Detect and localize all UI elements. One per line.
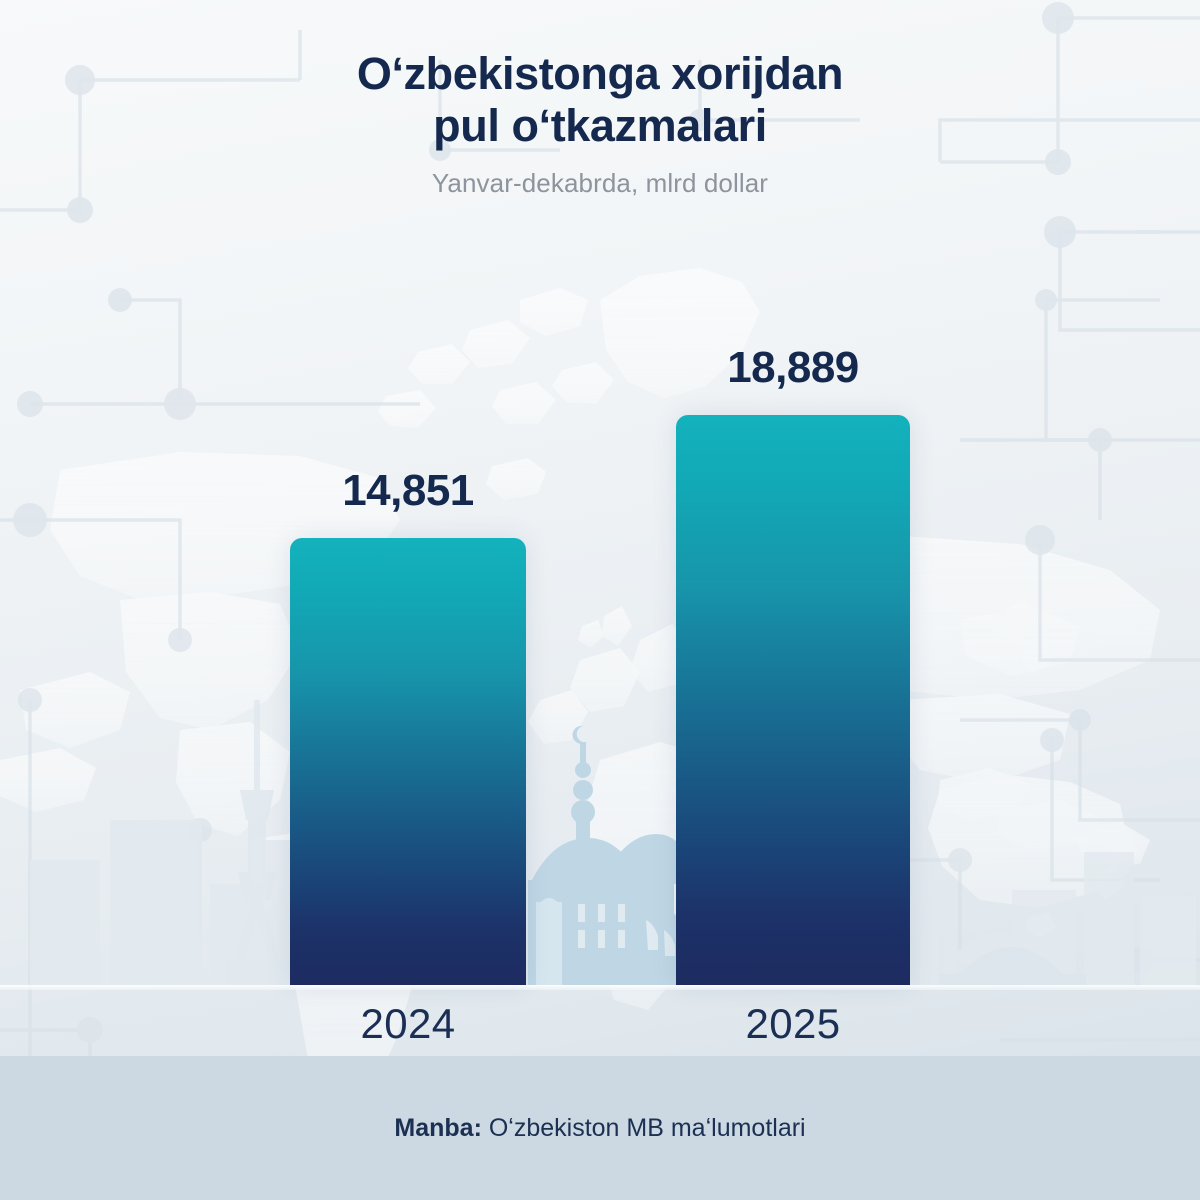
source-label: Manba: (394, 1114, 482, 1142)
chart-subtitle: Yanvar-dekabrda, mlrd dollar (0, 168, 1200, 199)
title-line-1: Oʻzbekistonga xorijdan (357, 48, 843, 99)
category-label-2024: 2024 (290, 1000, 526, 1048)
bar-value-label-2024: 14,851 (290, 466, 526, 516)
bar-value-label-2025: 18,889 (676, 343, 910, 393)
source-note: Manba: Oʻzbekiston MB maʻlumotlari (0, 1114, 1200, 1143)
axis-baseline (0, 985, 1200, 990)
bar-2024[interactable] (290, 538, 526, 985)
category-label-2025: 2025 (676, 1000, 910, 1048)
source-value: Oʻzbekiston MB maʻlumotlari (489, 1114, 806, 1142)
page-title: Oʻzbekistonga xorijdan pul oʻtkazmalari (0, 48, 1200, 152)
bar-2025[interactable] (676, 415, 910, 985)
infographic-canvas: Oʻzbekistonga xorijdan pul oʻtkazmalari … (0, 0, 1200, 1200)
chart-header: Oʻzbekistonga xorijdan pul oʻtkazmalari … (0, 48, 1200, 199)
title-line-2: pul oʻtkazmalari (433, 100, 767, 151)
